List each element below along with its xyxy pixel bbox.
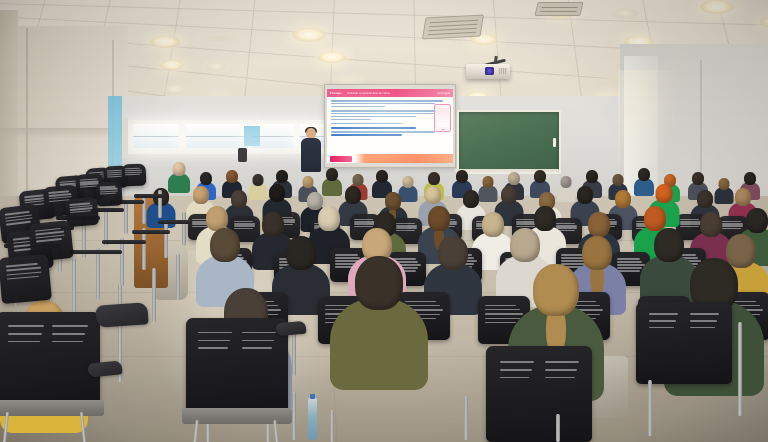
attendee-head [210, 228, 240, 262]
slide-paragraph-2 [331, 110, 449, 120]
foreground-chair-center [186, 318, 288, 416]
chair-leg-far-right-2 [648, 380, 652, 436]
armrest-panel-center [275, 321, 306, 337]
window-1 [133, 124, 179, 148]
empty-chair-9 [95, 181, 122, 206]
water-bottle [308, 398, 317, 440]
slide-header-bar: El temps Publicitat i promoció dins de l… [327, 89, 453, 97]
empty-chair-13 [0, 254, 52, 304]
attendee-torso [330, 298, 428, 390]
ceiling-downlight-1 [700, 0, 734, 14]
attendee-head [269, 184, 285, 202]
attendee-head [428, 206, 450, 231]
attendee-head [735, 188, 751, 206]
chair-post-10 [96, 248, 100, 300]
chair-post-18 [176, 254, 180, 300]
ceiling-projector [466, 64, 510, 79]
chair-leg-6 [556, 414, 560, 442]
attendee-head [655, 184, 672, 203]
attendee-head [577, 186, 593, 204]
ceiling-downlight-4 [292, 28, 326, 42]
chair-leg-far-right [738, 322, 742, 416]
slide-paragraph-3 [331, 123, 449, 125]
projector-vent [499, 68, 507, 74]
slide-footer-bar [327, 154, 453, 163]
chalkboard [457, 110, 561, 174]
chair-post-13 [164, 220, 168, 258]
ceiling-downlight-5 [150, 36, 180, 48]
attendee-head [226, 170, 238, 183]
slide-footer-logo [330, 156, 352, 162]
chair-armrest-7 [70, 250, 122, 254]
attendee-head [654, 228, 684, 262]
attendee-head [456, 170, 468, 183]
foreground-chair-right [486, 346, 592, 442]
hvac-vent-1 [422, 14, 484, 39]
presenter-body [301, 138, 321, 172]
attendee-head [482, 176, 493, 188]
attendee-head [355, 256, 403, 310]
foreground-chair-left [0, 312, 100, 408]
hvac-vent-3 [534, 2, 583, 16]
empty-chair-3 [122, 164, 147, 187]
attendee-head [612, 174, 623, 186]
chair-leg-2 [292, 392, 296, 440]
wall-right-light-glow [618, 70, 678, 180]
attendee-head [345, 186, 361, 204]
attendee-head [744, 172, 756, 185]
attendee-head [193, 186, 209, 204]
attendee-head [318, 206, 340, 231]
attendee-head [534, 170, 546, 183]
attendee-head [173, 162, 186, 176]
presenter [300, 128, 322, 172]
chair-armrest-9 [132, 230, 170, 234]
slide-paragraph-4 [331, 131, 449, 135]
attendee-head [302, 176, 313, 188]
chair-armrest-8 [102, 240, 146, 244]
attendee-head [286, 236, 316, 270]
attendee-olive-sweater-front [330, 256, 428, 402]
ceiling-downlight-14 [164, 84, 186, 94]
tablet-arm-post-center [292, 330, 296, 376]
attendee-head [508, 172, 520, 185]
chair-armrest-10 [158, 220, 190, 224]
ceiling-downlight-7 [318, 52, 346, 63]
attendee-head [510, 228, 540, 262]
attendee-head [588, 212, 610, 237]
attendee-head [586, 170, 598, 183]
slide-paragraph-1 [331, 100, 449, 107]
window-2 [186, 124, 246, 148]
tablet-arm-left[interactable] [95, 302, 148, 328]
attendee-head [692, 172, 704, 185]
attendee-head [425, 186, 441, 204]
foreground-chair-far-right [636, 302, 732, 384]
slide-link-1[interactable] [331, 127, 449, 129]
attendee-head [200, 172, 212, 185]
chair-post-6 [142, 194, 146, 224]
attendee-head [697, 190, 713, 208]
chair-leg-4 [330, 410, 334, 442]
attendee-head [438, 236, 468, 270]
slide-header-left: El temps [330, 92, 342, 95]
projection-screen: El temps Publicitat i promoció dins de l… [324, 84, 456, 168]
slide-body [331, 100, 449, 153]
projector-lens [485, 67, 494, 75]
ceiling-downlight-6 [612, 8, 638, 19]
chair-post-12 [142, 228, 146, 270]
chair-post-17 [152, 268, 156, 322]
attendee-head [463, 190, 479, 208]
slide-header-right: Continguts [437, 92, 450, 95]
attendee-head [385, 192, 401, 210]
attendee-head [402, 176, 413, 188]
wall-speaker-1 [238, 148, 247, 162]
ceiling-downlight-24 [206, 62, 226, 71]
attendee-head [276, 170, 288, 183]
window-blue-reflection-2 [244, 126, 260, 146]
attendee-head [352, 174, 363, 186]
chair-leg-5 [464, 396, 468, 440]
presentation-slide: El temps Publicitat i promoció dins de l… [327, 89, 453, 163]
conference-room-photo: El temps Publicitat i promoció dins de l… [0, 0, 768, 442]
attendee-head [376, 170, 388, 183]
chair-post-5 [124, 200, 128, 234]
attendee-head [638, 168, 650, 181]
attendee-head [533, 264, 579, 316]
mobile-phone-graphic [434, 104, 451, 132]
attendee-head [501, 186, 517, 204]
attendee-head [262, 212, 284, 237]
ceiling-downlight-8 [160, 60, 184, 70]
chair-post-14 [182, 212, 186, 246]
chalkboard-clip [553, 138, 556, 147]
chair-post-11 [120, 238, 124, 286]
slide-header-center: Publicitat i promoció dins de l'obra [347, 92, 390, 95]
chair-armrest-5 [134, 194, 164, 198]
attendee-head [428, 172, 440, 185]
attendee-head [746, 208, 768, 233]
attendee-head [615, 190, 631, 208]
attendee-head [326, 168, 338, 181]
